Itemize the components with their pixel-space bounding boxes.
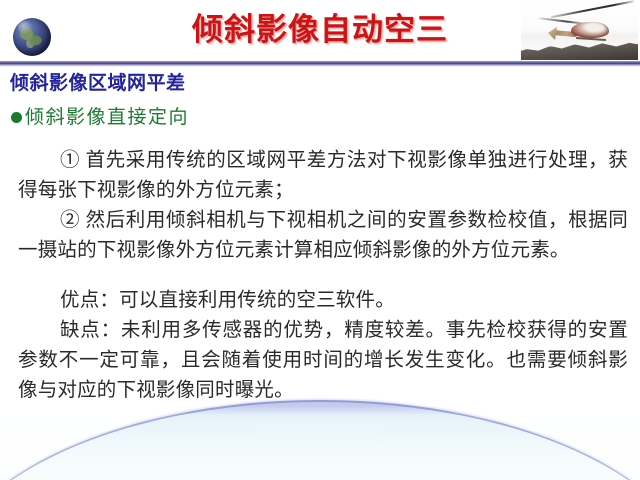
section-heading: 倾斜影像区域网平差 <box>10 70 186 96</box>
bullet-dot-icon <box>11 112 22 123</box>
body-copy: ① 首先采用传统的区域网平差方法对下视影像单独进行处理，获得每张下视影像的外方位… <box>18 146 628 406</box>
helicopter-fuselage <box>571 22 609 38</box>
slide-canvas: 倾斜影像自动空三 倾斜影像区域网平差 倾斜影像直接定向 ① 首先采用传统的区域网… <box>0 0 640 480</box>
body-paragraph-advantage: 优点：可以直接利用传统的空三软件。 <box>18 286 628 316</box>
body-paragraph-disadvantage: 缺点：未利用多传感器的优势，精度较差。事先检校获得的安置参数不一定可靠，且会随着… <box>18 316 628 406</box>
earth-horizon-rim <box>0 400 640 480</box>
header-divider-shadow <box>0 65 640 67</box>
slide-header: 倾斜影像自动空三 <box>0 0 640 66</box>
helicopter-skid <box>576 37 606 41</box>
helicopter-main-rotor <box>551 0 634 18</box>
helicopter-photo <box>521 0 638 60</box>
bullet-label: 倾斜影像直接定向 <box>25 104 189 130</box>
helicopter-tail-fin <box>548 27 557 40</box>
bullet-line: 倾斜影像直接定向 <box>11 104 189 130</box>
body-paragraph-1: ① 首先采用传统的区域网平差方法对下视影像单独进行处理，获得每张下视影像的外方位… <box>18 146 628 206</box>
body-paragraph-2: ② 然后利用倾斜相机与下视相机之间的安置参数检校值，根据同一摄站的下视影像外方位… <box>18 206 628 266</box>
